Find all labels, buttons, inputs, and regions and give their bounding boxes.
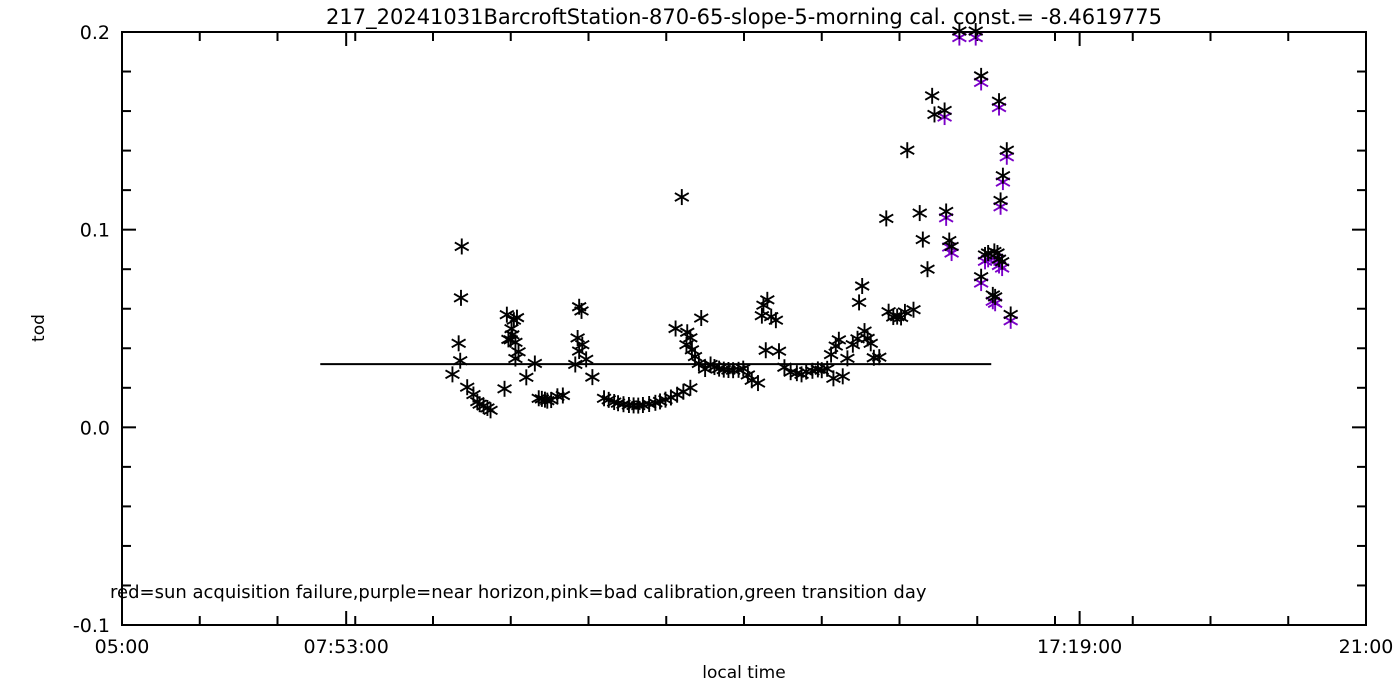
data-point bbox=[921, 261, 935, 277]
x-tick-label: 05:00 bbox=[95, 636, 150, 658]
x-axis-label: local time bbox=[702, 663, 785, 683]
data-point bbox=[498, 381, 512, 397]
x-tick-label: 07:53:00 bbox=[304, 636, 389, 658]
axis-ticks bbox=[122, 32, 1366, 625]
data-point bbox=[1000, 142, 1014, 158]
data-point bbox=[755, 308, 769, 324]
data-point bbox=[675, 189, 689, 205]
data-point bbox=[992, 93, 1006, 109]
y-tick-label: -0.1 bbox=[73, 615, 110, 637]
data-point bbox=[772, 343, 786, 359]
data-point bbox=[759, 342, 773, 358]
data-point bbox=[519, 369, 533, 385]
data-point bbox=[925, 88, 939, 104]
chart-title: 217_20241031BarcroftStation-870-65-slope… bbox=[326, 5, 1162, 30]
data-point bbox=[996, 168, 1010, 184]
data-point bbox=[585, 369, 599, 385]
x-tick-label: 21:00 bbox=[1339, 636, 1394, 658]
data-point bbox=[900, 142, 914, 158]
series-tod bbox=[446, 23, 1018, 418]
data-point bbox=[694, 310, 708, 326]
data-point bbox=[852, 294, 866, 310]
data-point bbox=[913, 205, 927, 221]
data-point bbox=[446, 366, 460, 382]
y-tick-label: 0.2 bbox=[80, 22, 110, 44]
data-point bbox=[1004, 306, 1018, 322]
x-tick-label: 17:19:00 bbox=[1037, 636, 1122, 658]
scatter-plot: 217_20241031BarcroftStation-870-65-slope… bbox=[0, 0, 1400, 700]
data-point bbox=[879, 210, 893, 226]
plot-container: 217_20241031BarcroftStation-870-65-slope… bbox=[0, 0, 1400, 700]
data-point bbox=[939, 203, 953, 219]
y-tick-label: 0.0 bbox=[80, 417, 110, 439]
data-point bbox=[453, 353, 467, 369]
data-point bbox=[452, 335, 466, 351]
axis-tick-labels: 0.20.10.0-0.105:0007:53:0017:19:0021:00 bbox=[73, 22, 1393, 658]
frame-rect bbox=[122, 32, 1366, 625]
data-point bbox=[994, 192, 1008, 208]
data-point bbox=[855, 278, 869, 294]
y-axis-label: tod bbox=[29, 314, 49, 342]
y-tick-label: 0.1 bbox=[80, 220, 110, 242]
data-point bbox=[916, 232, 930, 248]
data-point bbox=[974, 68, 988, 84]
data-point bbox=[974, 269, 988, 285]
legend-annotation: red=sun acquisition failure,purple=near … bbox=[110, 582, 927, 603]
data-point bbox=[454, 290, 468, 306]
plot-frame bbox=[122, 32, 1366, 625]
data-point bbox=[455, 238, 469, 254]
